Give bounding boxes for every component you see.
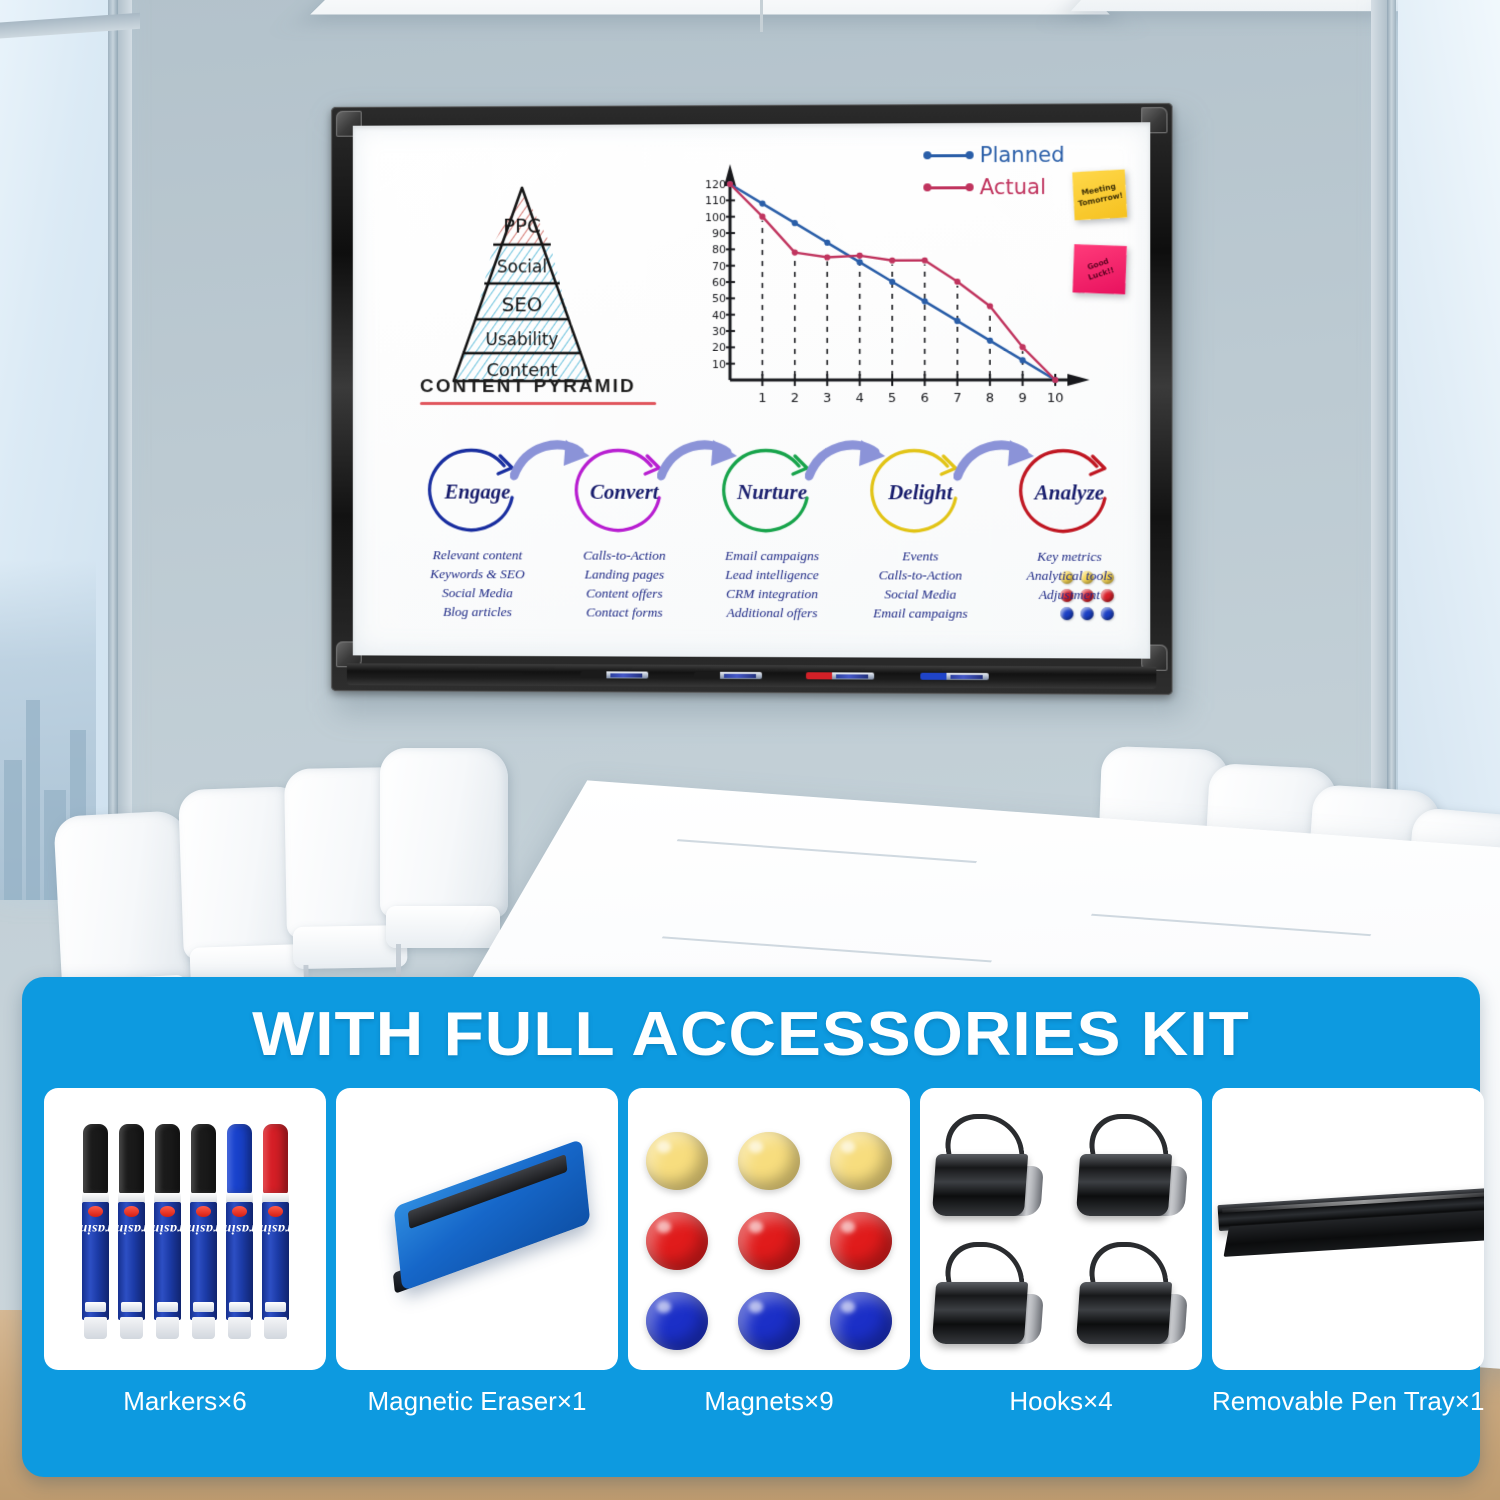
magnet-disc: [646, 1132, 708, 1190]
cycle-stage-item: Content offers: [583, 584, 666, 603]
cycle-stage-item: CRM integration: [725, 584, 819, 603]
svg-text:60: 60: [712, 276, 726, 289]
pen-tray-image: [1212, 1088, 1484, 1370]
magnetic-hook: [1074, 1242, 1192, 1352]
svg-text:120: 120: [705, 178, 726, 191]
pyramid-level-label: Usability: [486, 329, 559, 349]
svg-text:10: 10: [1047, 391, 1064, 406]
eraser-magnet-strip: [408, 1154, 568, 1229]
cycle-stage-label: Nurture: [737, 479, 807, 504]
cycle-stage-item: Contact forms: [583, 603, 666, 622]
pyramid-caption: CONTENT PYRAMID: [420, 376, 668, 398]
sticky-note-meeting-text: Meeting Tomorrow!: [1075, 180, 1125, 209]
accessories-kit-panel: WITH FULL ACCESSORIES KIT ErasingErasing…: [22, 977, 1480, 1477]
legend-label-planned: Planned: [980, 143, 1065, 167]
sticky-note-good-luck-text: Good Luck!!: [1074, 252, 1125, 286]
cycle-stage-item: Additional offers: [725, 603, 819, 622]
svg-text:30: 30: [712, 325, 726, 338]
kit-banner-title: WITH FULL ACCESSORIES KIT: [0, 977, 1500, 1070]
cycle-stage-items: Relevant contentKeywords & SEOSocial Med…: [430, 545, 525, 622]
cycle-stage-items: Key metricsAnalytical toolsAdjustment: [1026, 547, 1112, 605]
cycle-stage-item: Key metrics: [1026, 547, 1112, 566]
magnet-disc: [830, 1132, 892, 1190]
svg-text:8: 8: [986, 391, 994, 406]
content-pyramid-diagram: PPC Social SEO Usability Content: [414, 184, 630, 384]
cycle-stage-item: Email campaigns: [873, 604, 968, 624]
cycle-stage-item: Email campaigns: [725, 546, 819, 565]
magnetic-hook: [930, 1114, 1048, 1224]
magnetic-hook: [930, 1242, 1048, 1352]
cycle-stage-item: Adjustment: [1026, 585, 1112, 605]
cycle-flow-arrow-icon: [953, 436, 1040, 488]
kit-label-markers: Markers×6: [44, 1370, 326, 1417]
svg-text:1: 1: [758, 391, 766, 406]
cycle-stage-item: Events: [873, 546, 968, 565]
cycle-stage-label: Delight: [888, 480, 952, 505]
svg-text:6: 6: [921, 391, 929, 406]
cycle-stage-label: Engage: [444, 479, 510, 504]
magnets-image: [628, 1088, 910, 1370]
eraser-image: [336, 1088, 618, 1370]
cycle-stage-item: Blog articles: [430, 602, 525, 621]
sticky-note-good-luck: Good Luck!!: [1073, 244, 1127, 294]
svg-text:50: 50: [712, 292, 726, 305]
kit-card-eraser: Magnetic Eraser×1: [336, 1088, 618, 1417]
marker-pen: Erasing: [262, 1124, 289, 1339]
whiteboard: PPC Social SEO Usability Content CONTENT…: [328, 105, 1176, 705]
svg-text:3: 3: [823, 391, 831, 406]
chair: [380, 748, 508, 978]
magnet-disc: [646, 1292, 708, 1350]
pyramid-level-label: SEO: [502, 293, 543, 316]
magnet-disc: [738, 1292, 800, 1350]
pyramid-level-label: PPC: [503, 215, 541, 238]
ceiling-panel-left: [310, 0, 1110, 15]
marker-pen: Erasing: [118, 1124, 145, 1339]
cycle-flow-arrow-icon: [805, 436, 891, 488]
svg-text:80: 80: [712, 243, 726, 256]
svg-text:5: 5: [888, 391, 896, 406]
ceiling-seam: [760, 0, 763, 32]
cycle-stage-engage: EngageRelevant contentKeywords & SEOSoci…: [404, 444, 551, 653]
hooks-image: [920, 1088, 1202, 1370]
kit-card-markers: ErasingErasingErasingErasingErasingErasi…: [44, 1088, 326, 1417]
svg-text:10: 10: [712, 358, 726, 371]
tray-marker: [920, 673, 988, 680]
svg-text:70: 70: [712, 260, 726, 273]
svg-text:100: 100: [705, 211, 726, 224]
kit-card-magnets: Magnets×9: [628, 1088, 910, 1417]
marker-pen: Erasing: [154, 1124, 181, 1339]
magnet-disc: [738, 1132, 800, 1190]
magnetic-hook: [1074, 1114, 1192, 1224]
magnet-disc: [830, 1292, 892, 1350]
cycle-stage-item: Keywords & SEO: [430, 564, 525, 583]
svg-text:7: 7: [953, 391, 961, 406]
marketing-cycle-diagram: EngageRelevant contentKeywords & SEOSoci…: [404, 444, 1144, 656]
kit-card-pen-tray: Removable Pen Tray×1: [1212, 1088, 1484, 1417]
kit-card-row: ErasingErasingErasingErasingErasingErasi…: [22, 1070, 1480, 1417]
marker-pen: Erasing: [82, 1124, 109, 1339]
cycle-stage-item: Analytical tools: [1026, 566, 1112, 585]
tray-marker: [806, 672, 874, 679]
magnet-disc: [646, 1212, 708, 1270]
cycle-stage-label: Convert: [590, 479, 659, 504]
board-pen-tray: [347, 663, 1156, 689]
cycle-stage-item: Relevant content: [430, 545, 525, 564]
cycle-flow-arrow-icon: [657, 436, 743, 488]
svg-text:2: 2: [791, 391, 799, 406]
legend-label-actual: Actual: [980, 175, 1046, 199]
kit-label-hooks: Hooks×4: [920, 1370, 1202, 1417]
tray-marker: [581, 671, 649, 678]
cycle-stage-items: Email campaignsLead intelligenceCRM inte…: [725, 546, 819, 623]
cycle-stage-items: Calls-to-ActionLanding pagesContent offe…: [583, 546, 666, 623]
marker-pen: Erasing: [190, 1124, 217, 1339]
legend-swatch-planned: [925, 154, 971, 157]
tray-marker: [694, 672, 762, 679]
markers-image: ErasingErasingErasingErasingErasingErasi…: [44, 1088, 326, 1370]
kit-label-magnets: Magnets×9: [628, 1370, 910, 1417]
svg-text:90: 90: [712, 227, 726, 240]
magnet-disc: [738, 1212, 800, 1270]
cycle-stage-label: Analyze: [1035, 480, 1105, 505]
kit-label-pen-tray: Removable Pen Tray×1: [1212, 1370, 1484, 1417]
sticky-note-meeting: Meeting Tomorrow!: [1072, 169, 1127, 220]
marker-pen: Erasing: [226, 1124, 253, 1339]
svg-text:40: 40: [712, 309, 726, 322]
pyramid-caption-underline: [420, 402, 656, 405]
svg-text:9: 9: [1018, 391, 1026, 406]
cycle-stage-item: Calls-to-Action: [873, 565, 968, 584]
cycle-flow-arrow-icon: [510, 436, 595, 488]
kit-card-hooks: Hooks×4: [920, 1088, 1202, 1417]
ceiling-panel-right: [1071, 0, 1421, 11]
chart-legend: Planned Actual: [925, 143, 1064, 208]
legend-item-actual: Actual: [925, 175, 1064, 200]
cycle-stage-item: Calls-to-Action: [583, 546, 666, 565]
eraser-body: [394, 1139, 591, 1291]
whiteboard-frame: PPC Social SEO Usability Content CONTENT…: [331, 103, 1172, 695]
cycle-stage-item: Social Media: [873, 585, 968, 605]
magnet-disc: [830, 1212, 892, 1270]
pyramid-level-label: Social: [497, 256, 547, 276]
cycle-stage-item: Lead intelligence: [725, 565, 819, 584]
cycle-stage-items: EventsCalls-to-ActionSocial MediaEmail c…: [873, 546, 968, 623]
svg-text:20: 20: [712, 341, 726, 354]
whiteboard-surface: PPC Social SEO Usability Content CONTENT…: [353, 122, 1150, 658]
kit-label-eraser: Magnetic Eraser×1: [336, 1370, 618, 1417]
svg-text:110: 110: [705, 194, 726, 207]
legend-item-planned: Planned: [925, 143, 1064, 168]
svg-text:4: 4: [856, 391, 864, 406]
cycle-stage-item: Landing pages: [583, 565, 666, 584]
legend-swatch-actual: [925, 186, 971, 189]
cycle-stage-item: Social Media: [430, 583, 525, 602]
